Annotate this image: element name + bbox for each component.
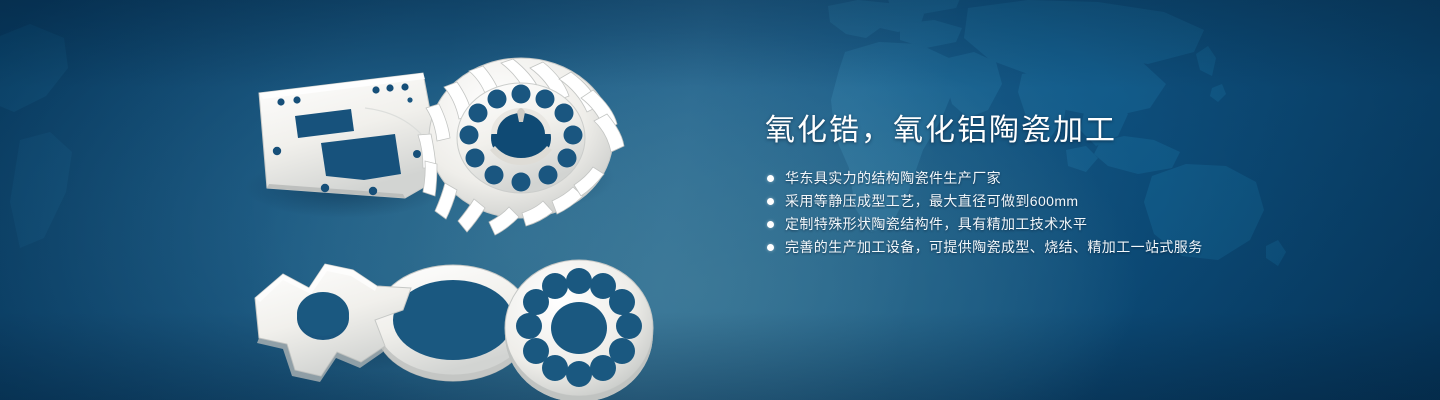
ceramic-plate-part xyxy=(259,73,439,198)
bullet-dot-icon xyxy=(767,221,774,228)
list-item: 华东具实力的结构陶瓷件生产厂家 xyxy=(767,170,1385,186)
list-item: 完善的生产加工设备，可提供陶瓷成型、烧结、精加工一站式服务 xyxy=(767,239,1385,255)
ceramic-products-image xyxy=(225,38,695,383)
feature-text: 采用等静压成型工艺，最大直径可做到600mm xyxy=(785,193,1078,209)
ceramic-impeller-part xyxy=(418,58,624,235)
page-title: 氧化锆，氧化铝陶瓷加工 xyxy=(765,110,1385,152)
feature-text: 华东具实力的结构陶瓷件生产厂家 xyxy=(785,170,1001,186)
bullet-dot-icon xyxy=(767,198,774,205)
list-item: 定制特殊形状陶瓷结构件，具有精加工技术水平 xyxy=(767,216,1385,232)
bullet-dot-icon xyxy=(767,175,774,182)
bullet-dot-icon xyxy=(767,244,774,251)
ceramic-perforated-disc-part xyxy=(505,260,653,400)
hero-banner: 氧化锆，氧化铝陶瓷加工 华东具实力的结构陶瓷件生产厂家 采用等静压成型工艺，最大… xyxy=(0,0,1440,400)
list-item: 采用等静压成型工艺，最大直径可做到600mm xyxy=(767,193,1385,209)
banner-copy: 氧化锆，氧化铝陶瓷加工 华东具实力的结构陶瓷件生产厂家 采用等静压成型工艺，最大… xyxy=(765,110,1385,262)
feature-text: 完善的生产加工设备，可提供陶瓷成型、烧结、精加工一站式服务 xyxy=(785,239,1203,255)
feature-text: 定制特殊形状陶瓷结构件，具有精加工技术水平 xyxy=(785,216,1087,232)
feature-list: 华东具实力的结构陶瓷件生产厂家 采用等静压成型工艺，最大直径可做到600mm 定… xyxy=(767,170,1385,255)
